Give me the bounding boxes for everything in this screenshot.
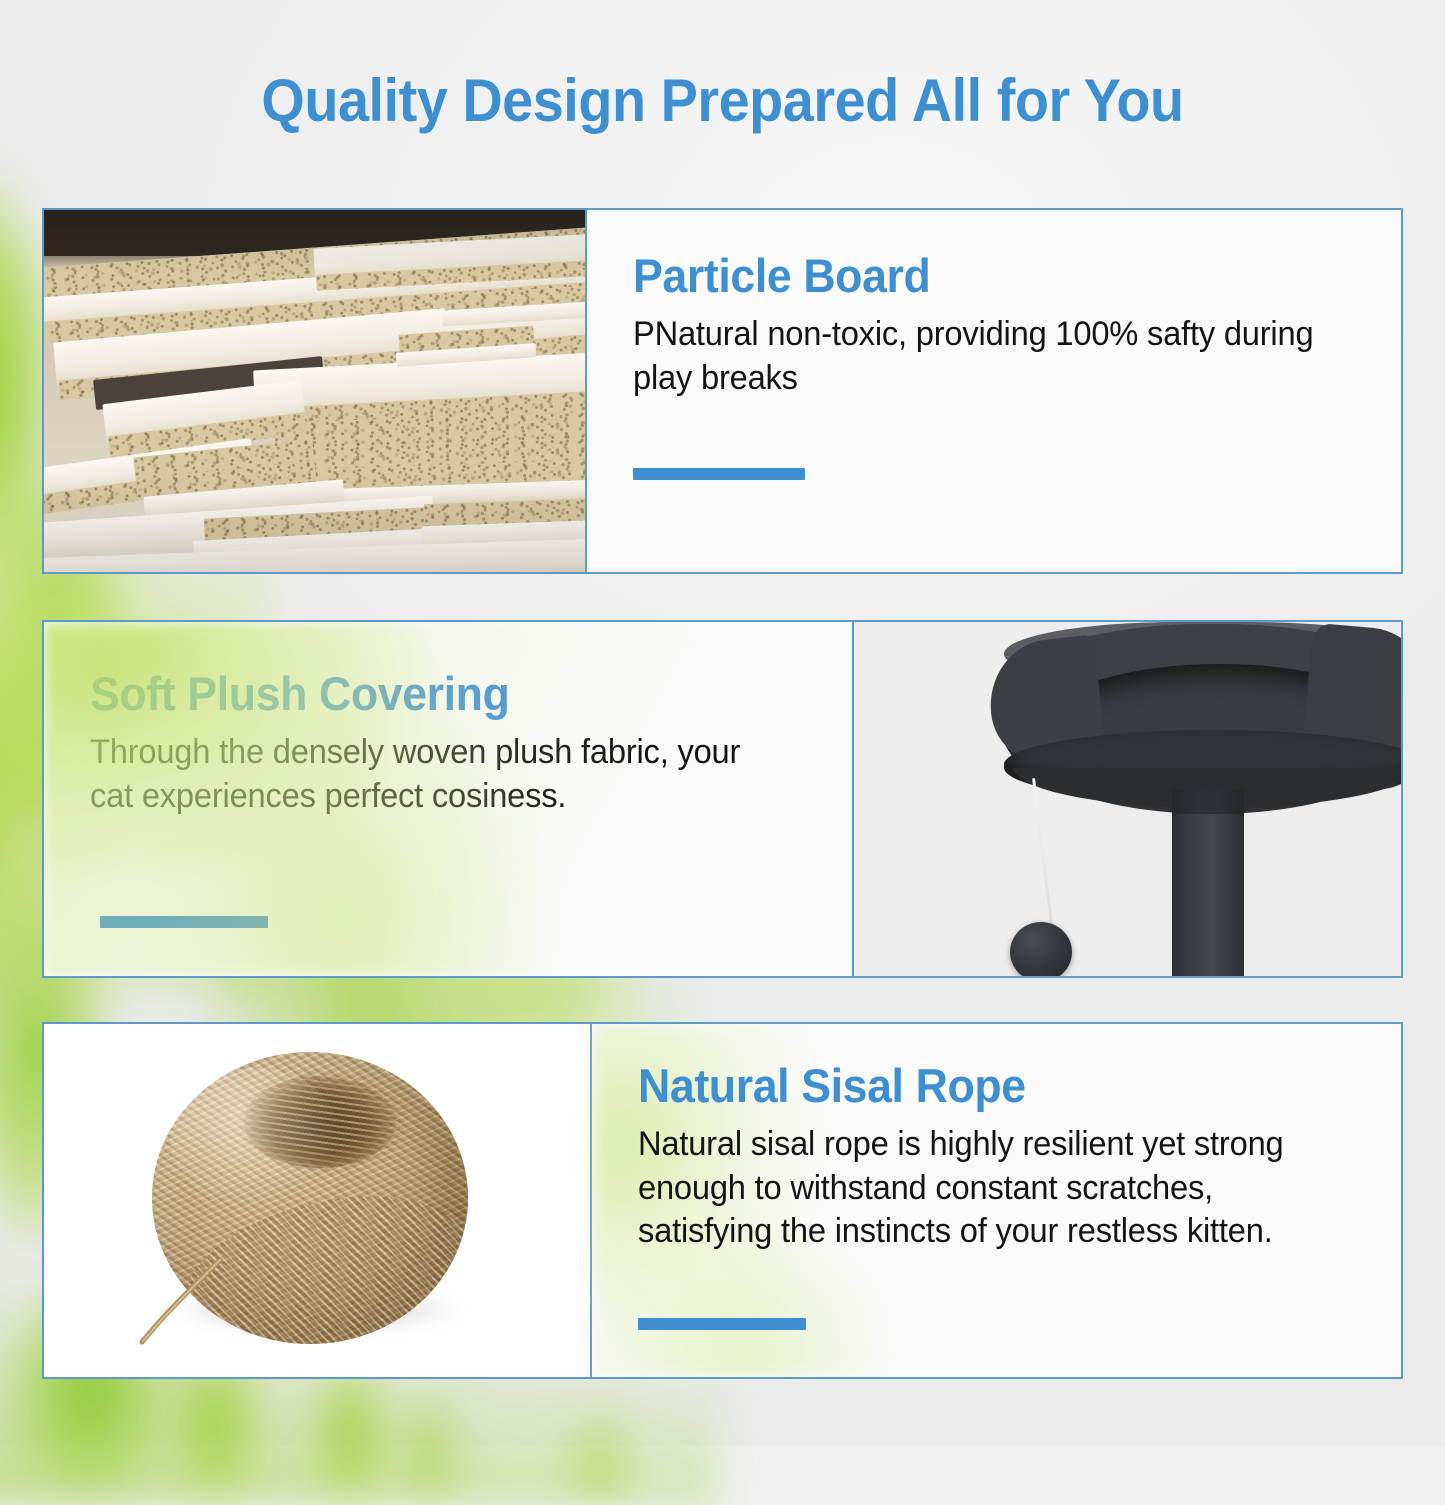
feature-card-particle-board: Particle Board PNatural non-toxic, provi… <box>42 208 1403 574</box>
particle-board-description: PNatural non-toxic, providing 100% safty… <box>633 313 1328 400</box>
sisal-rope-accent-bar <box>638 1318 806 1330</box>
sisal-rope-text-panel: Natural Sisal Rope Natural sisal rope is… <box>592 1024 1401 1377</box>
feature-card-natural-sisal-rope: Natural Sisal Rope Natural sisal rope is… <box>42 1022 1403 1379</box>
particle-board-accent-bar <box>633 468 805 480</box>
sisal-rope-description: Natural sisal rope is highly resilient y… <box>638 1123 1328 1254</box>
soft-plush-text-panel: Soft Plush Covering Through the densely … <box>44 622 854 976</box>
rope-loose-end-icon <box>44 1024 590 1377</box>
sisal-rope-ball-image <box>44 1024 592 1377</box>
soft-plush-description: Through the densely woven plush fabric, … <box>90 731 743 818</box>
particle-board-image <box>44 210 587 572</box>
particle-board-text-panel: Particle Board PNatural non-toxic, provi… <box>587 210 1401 572</box>
particle-board-heading: Particle Board <box>633 252 1321 299</box>
soft-plush-accent-bar <box>100 916 268 928</box>
page-title: Quality Design Prepared All for You <box>51 66 1395 135</box>
soft-plush-heading: Soft Plush Covering <box>90 670 772 717</box>
feature-card-soft-plush-covering: Soft Plush Covering Through the densely … <box>42 620 1403 978</box>
plush-cat-perch-image <box>854 622 1401 976</box>
sisal-rope-heading: Natural Sisal Rope <box>638 1062 1321 1109</box>
